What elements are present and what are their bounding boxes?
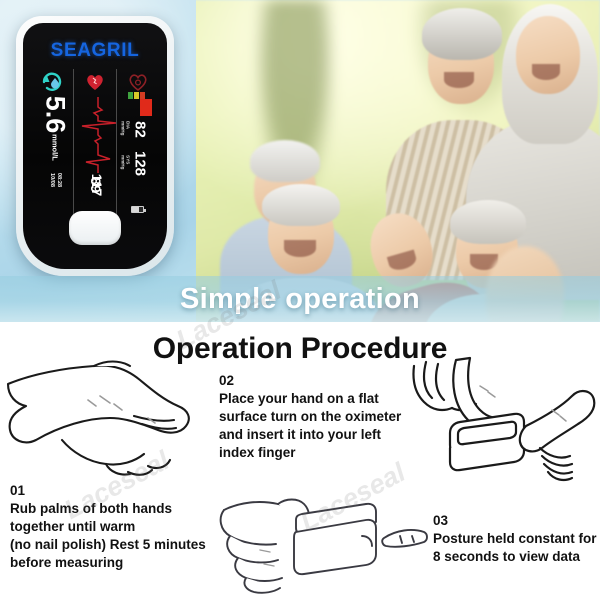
finger-insert-illustration [402,352,600,504]
step-02-text: Place your hand on a flat surface turn o… [219,390,415,462]
step-01: 01 Rub palms of both hands together unti… [10,482,225,572]
person-hair [250,140,320,182]
blood-pressure-column: DIA mmHg 82 SYS mmHg 128 [117,69,159,215]
device-screen-face: SEAGRIL 5.6 mmol/L 08:28 [23,23,167,269]
step-03-number: 03 [433,512,600,530]
step-02: 02 Place your hand on a flat surface tur… [219,372,415,462]
glucose-column: 5.6 mmol/L 08:28 10/08 [31,69,74,215]
operation-procedure-section: Operation Procedure [0,322,600,600]
battery-icon [131,206,144,213]
device-readout-screen: 5.6 mmol/L 08:28 10/08 [31,69,159,215]
sys-label: SYS mmHg [120,155,131,169]
pulse-oximeter-device: SEAGRIL 5.6 mmol/L 08:28 [16,16,174,276]
glucose-timestamp: 08:28 10/08 [48,158,62,202]
step-01-text: Rub palms of both hands together until w… [10,500,225,572]
sys-value: 128 [132,137,149,191]
device-power-button[interactable] [69,211,121,245]
person-smile [532,64,560,80]
dia-label: DIA mmHg [120,121,131,135]
simple-operation-banner: Simple operation [0,276,600,322]
hero-photo-section: SEAGRIL 5.6 mmol/L 08:28 [0,0,600,322]
person-hair [262,184,340,226]
step-01-number: 01 [10,482,225,500]
ecg-column: 117 89 [74,69,117,215]
brand-logo: SEAGRIL [23,40,167,62]
ecg-value-pulse: 89 [88,167,104,203]
banner-label: Simple operation [180,283,420,316]
person-smile [284,240,316,257]
person-hair [450,200,526,244]
step-03: 03 Posture held constant for 8 seconds t… [433,512,600,566]
step-02-number: 02 [219,372,415,390]
hand-resting-illustration [216,492,428,600]
person-head [516,16,580,94]
hands-rubbing-illustration [2,348,218,484]
step-03-text: Posture held constant for 8 seconds to v… [433,530,600,566]
person-smile [444,72,474,88]
